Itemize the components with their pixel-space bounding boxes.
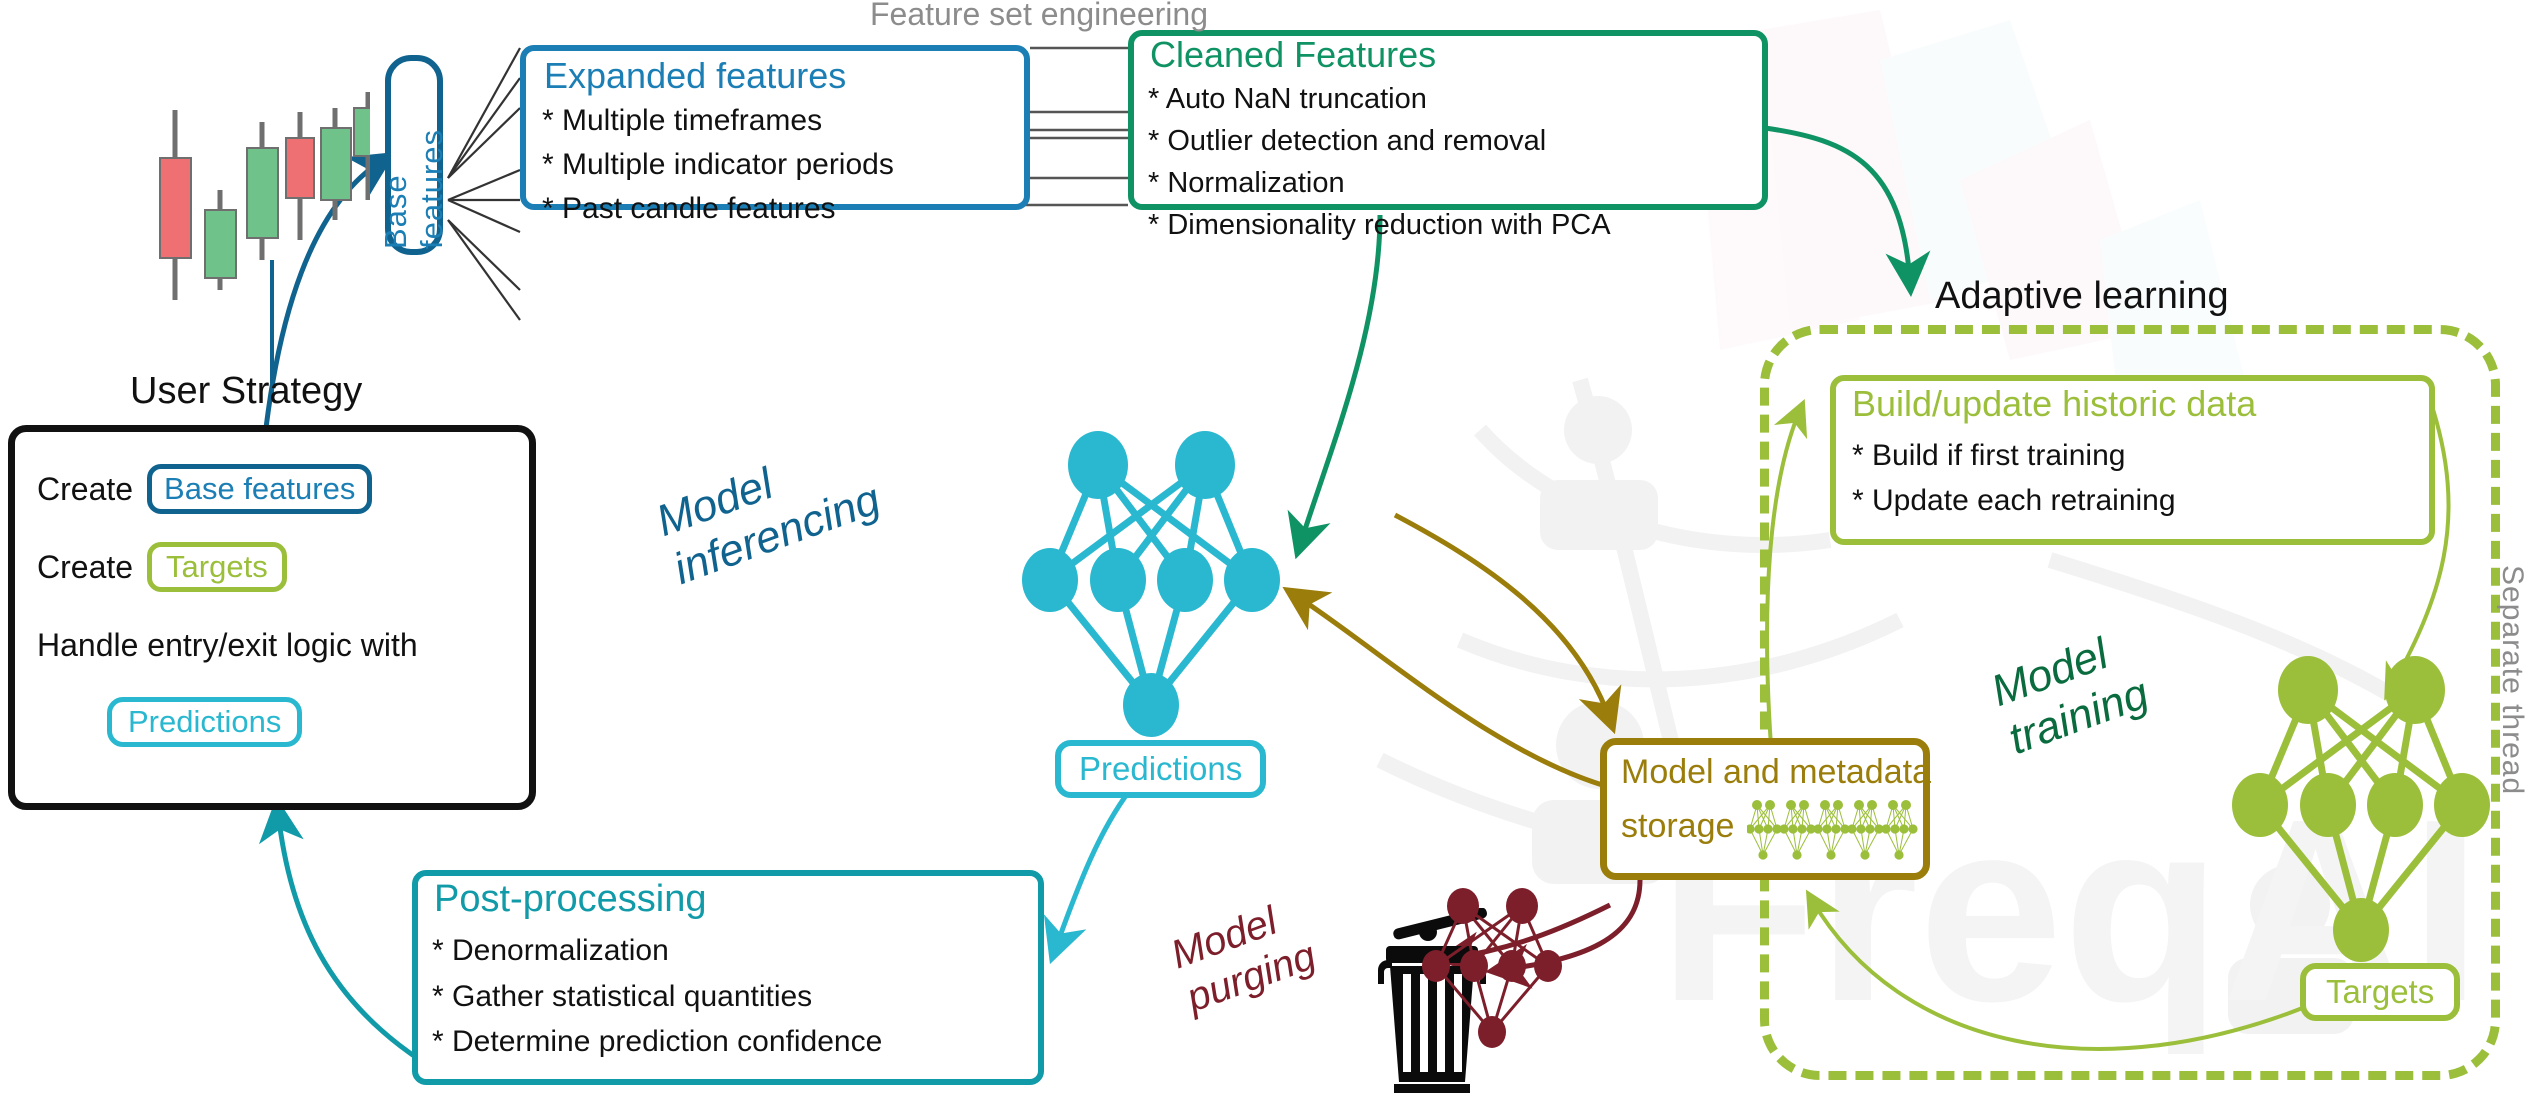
expanded-features-title: Expanded features: [544, 55, 846, 97]
cleaned-features-bullets: * Auto NaN truncation * Outlier detectio…: [1148, 78, 1611, 246]
list-item: * Normalization: [1148, 162, 1611, 204]
diagram-canvas: FreqAI: [0, 0, 2539, 1104]
list-item: * Multiple timeframes: [542, 99, 894, 143]
post-processing-box[interactable]: Post-processing * Denormalization * Gath…: [412, 870, 1044, 1085]
predictions-pill-label: Predictions: [1079, 750, 1242, 788]
model-purging-label: Model purging: [1165, 889, 1322, 1021]
model-storage-line1: Model and metadata: [1621, 753, 1931, 792]
list-item: * Past candle features: [542, 187, 894, 231]
list-item: * Outlier detection and removal: [1148, 120, 1611, 162]
build-update-bullets: * Build if first training * Update each …: [1852, 433, 2176, 523]
base-features-inline-pill-label: Base features: [164, 471, 355, 507]
neural-network-cyan-icon: [1020, 425, 1320, 745]
base-features-inline-pill[interactable]: Base features: [147, 464, 372, 514]
build-update-title: Build/update historic data: [1852, 383, 2256, 425]
user-strategy-row-1: Create Base features: [37, 464, 372, 514]
base-features-pill-label: Base features: [378, 61, 450, 249]
adaptive-learning-label: Adaptive learning: [1935, 275, 2229, 318]
predictions-inline-pill-label: Predictions: [128, 704, 281, 740]
list-item: * Multiple indicator periods: [542, 143, 894, 187]
predictions-pill[interactable]: Predictions: [1055, 740, 1266, 798]
feature-set-engineering-label: Feature set engineering: [870, 0, 1208, 33]
post-processing-bullets: * Denormalization * Gather statistical q…: [432, 928, 882, 1065]
base-features-pill[interactable]: Base features: [385, 55, 443, 255]
post-processing-title: Post-processing: [434, 878, 706, 921]
model-storage-box[interactable]: Model and metadata storage: [1600, 738, 1930, 880]
mini-neural-networks-icon: [1747, 797, 1927, 867]
expanded-features-box[interactable]: Expanded features * Multiple timeframes …: [520, 45, 1030, 210]
list-item: * Dimensionality reduction with PCA: [1148, 204, 1611, 246]
create-base-features-label: Create: [37, 471, 133, 508]
targets-inline-pill[interactable]: Targets: [147, 542, 287, 592]
targets-inline-pill-label: Targets: [166, 549, 268, 585]
create-targets-label: Create: [37, 549, 133, 586]
model-inferencing-label: Model inferencing: [650, 426, 887, 595]
model-storage-line2: storage: [1621, 807, 1734, 846]
list-item: * Build if first training: [1852, 433, 2176, 478]
build-update-historic-data-box[interactable]: Build/update historic data * Build if fi…: [1830, 375, 2435, 545]
neural-network-green-icon: [2230, 650, 2530, 970]
entry-exit-logic-label: Handle entry/exit logic with: [37, 627, 418, 664]
list-item: * Denormalization: [432, 928, 882, 974]
user-strategy-box[interactable]: Create Base features Create Targets Hand…: [8, 425, 536, 810]
list-item: * Auto NaN truncation: [1148, 78, 1611, 120]
neural-network-maroon-icon: [1418, 880, 1578, 1060]
predictions-inline-pill[interactable]: Predictions: [107, 697, 302, 747]
expanded-features-bullets: * Multiple timeframes * Multiple indicat…: [542, 99, 894, 231]
targets-pill-label: Targets: [2326, 973, 2434, 1011]
user-strategy-title: User Strategy: [130, 370, 362, 413]
user-strategy-row-2: Create Targets: [37, 542, 287, 592]
cleaned-features-title: Cleaned Features: [1150, 34, 1436, 76]
candlestick-chart-icon: [140, 60, 370, 320]
list-item: * Determine prediction confidence: [432, 1019, 882, 1065]
cleaned-features-box[interactable]: Cleaned Features * Auto NaN truncation *…: [1128, 30, 1768, 210]
list-item: * Gather statistical quantities: [432, 974, 882, 1020]
list-item: * Update each retraining: [1852, 478, 2176, 523]
targets-pill[interactable]: Targets: [2300, 963, 2460, 1021]
